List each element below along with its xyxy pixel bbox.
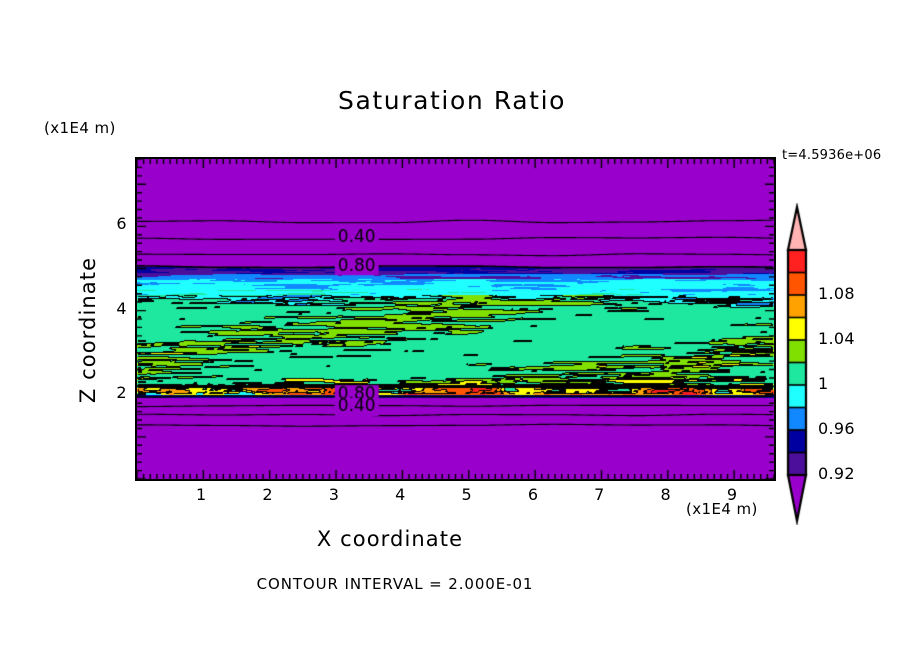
x-axis-tick-label: 6 [521, 485, 545, 504]
x-axis-tick-label: 4 [388, 485, 412, 504]
y-axis-units-label: (x1E4 m) [44, 119, 116, 137]
y-axis-tick-label: 6 [105, 214, 127, 233]
x-axis-tick-label: 5 [455, 485, 479, 504]
y-axis-title: Z coordinate [76, 230, 100, 430]
colorbar-tick-label: 1 [818, 374, 828, 393]
page-title: Saturation Ratio [0, 86, 904, 115]
x-axis-tick-label: 3 [322, 485, 346, 504]
colorbar-tick-label: 0.92 [818, 464, 855, 483]
x-axis-tick-label: 8 [654, 485, 678, 504]
colorbar [780, 203, 814, 525]
x-axis-tick-label: 1 [189, 485, 213, 504]
x-axis-tick-label: 2 [256, 485, 280, 504]
timestamp-annotation: t=4.5936e+06 [782, 148, 881, 163]
saturation-field-heatmap [137, 159, 774, 479]
contour-plot-area [135, 157, 776, 481]
colorbar-tick-label: 1.08 [818, 284, 855, 303]
figure-canvas: Saturation Ratio (x1E4 m) t=4.5936e+06 Z… [0, 0, 904, 654]
y-axis-tick-label: 4 [105, 299, 127, 318]
x-axis-tick-label: 9 [720, 485, 744, 504]
x-axis-title: X coordinate [0, 527, 780, 551]
contour-interval-note: CONTOUR INTERVAL = 2.000E-01 [0, 575, 790, 593]
colorbar-gradient [780, 203, 814, 525]
y-axis-tick-label: 2 [105, 383, 127, 402]
colorbar-tick-label: 1.04 [818, 329, 855, 348]
x-axis-tick-label: 7 [587, 485, 611, 504]
colorbar-tick-label: 0.96 [818, 419, 855, 438]
